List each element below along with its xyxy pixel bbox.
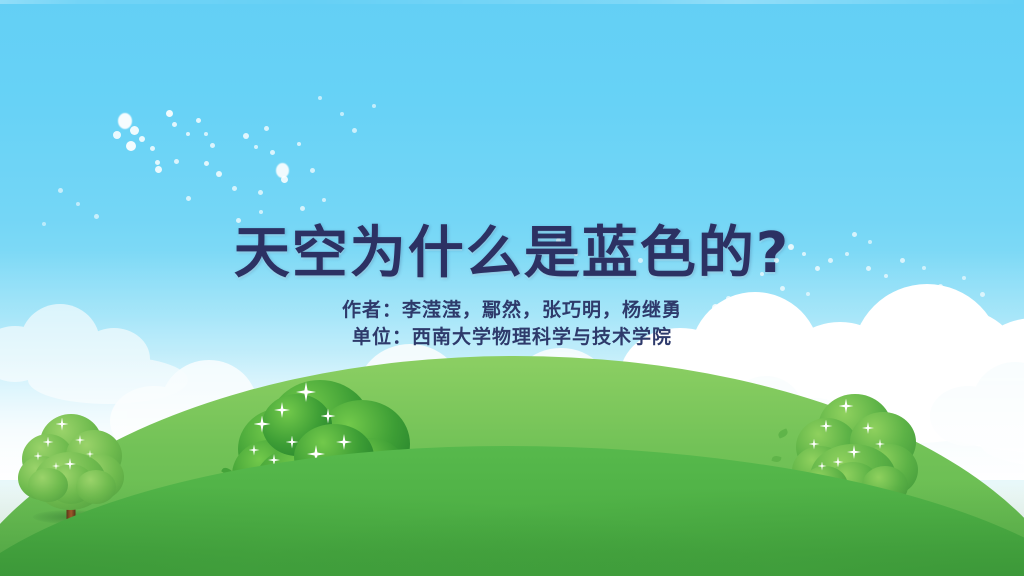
affiliation-line: 单位：西南大学物理科学与技术学院: [0, 324, 1024, 351]
page-title: 天空为什么是蓝色的?: [0, 208, 1024, 289]
bubble-sparkle: [322, 198, 326, 202]
bubble-sparkle: [186, 196, 191, 201]
bubble-sparkle: [155, 160, 160, 165]
bubble-sparkle: [155, 166, 162, 173]
title-slide: 天空为什么是蓝色的? 作者：李滢滢，鄢然，张巧明，杨继勇 单位：西南大学物理科学…: [0, 0, 1024, 576]
bubble-sparkle: [166, 110, 173, 117]
bubble-sparkle: [254, 145, 258, 149]
bubble-sparkle: [352, 128, 357, 133]
bubble-sparkle: [281, 176, 288, 183]
bubble-sparkle: [186, 132, 190, 136]
bubble-sparkle: [264, 126, 269, 131]
bubble-sparkle: [76, 202, 80, 206]
subtitle-block: 作者：李滢滢，鄢然，张巧明，杨继勇 单位：西南大学物理科学与技术学院: [0, 297, 1024, 351]
bubble-sparkle: [310, 168, 315, 173]
bubble-sparkle: [113, 131, 121, 139]
bubble-sparkle: [318, 96, 322, 100]
bubble-sparkle: [216, 171, 222, 177]
bubble-sparkle: [174, 159, 179, 164]
bubble-sparkle: [118, 113, 132, 129]
bubble-sparkle: [210, 143, 215, 148]
bubble-sparkle: [126, 141, 136, 151]
bubble-sparkle: [204, 132, 208, 136]
bubble-sparkle: [130, 126, 139, 135]
bubble-sparkle: [150, 146, 155, 151]
bubble-sparkle: [172, 122, 177, 127]
bubble-sparkle: [297, 142, 301, 146]
bubble-sparkle: [139, 136, 145, 142]
authors-line: 作者：李滢滢，鄢然，张巧明，杨继勇: [0, 297, 1024, 324]
grass-corner-shading: [0, 456, 1024, 576]
bubble-sparkle: [270, 150, 275, 155]
bubble-sparkle: [243, 133, 249, 139]
bubble-sparkle: [232, 186, 237, 191]
bubble-sparkle: [340, 112, 344, 116]
top-edge-strip: [0, 0, 1024, 4]
bubble-sparkle: [196, 118, 201, 123]
bubble-sparkle: [204, 161, 209, 166]
bubble-sparkle: [58, 188, 63, 193]
bubble-sparkle: [372, 104, 376, 108]
bubble-sparkle: [258, 190, 263, 195]
